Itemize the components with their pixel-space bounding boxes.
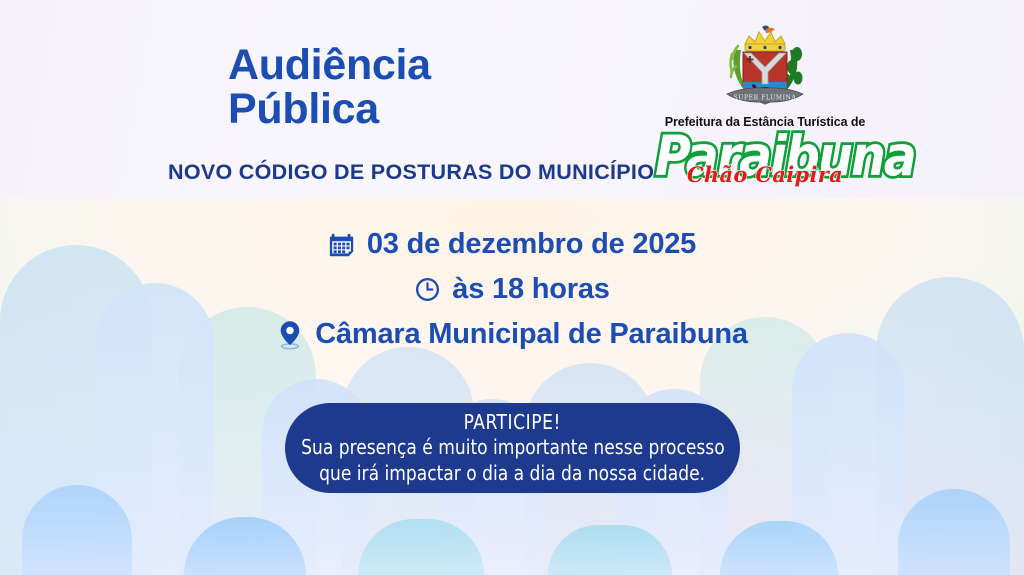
city-logo: SUPER FLUMINA Prefeitura da Estância Tur…	[655, 22, 875, 190]
logo-wordmark-sub: Chão Caipira	[655, 162, 875, 187]
detail-row-date: 03 de dezembro de 2025	[0, 222, 1024, 267]
map-pin-icon	[276, 319, 304, 350]
clock-icon	[414, 276, 441, 303]
title-line-2: Pública	[228, 88, 431, 132]
detail-text-place: Câmara Municipal de Paraibuna	[315, 318, 748, 351]
poster-canvas: Audiência Pública NOVO CÓDIGO DE POSTURA…	[0, 0, 1024, 575]
detail-row-place: Câmara Municipal de Paraibuna	[0, 312, 1024, 357]
callout-heading: PARTICIPE!	[464, 410, 561, 435]
detail-text-time: às 18 horas	[452, 273, 609, 306]
calendar-icon	[328, 231, 356, 259]
crest-motto: SUPER FLUMINA	[734, 95, 797, 102]
page-subtitle: NOVO CÓDIGO DE POSTURAS DO MUNICÍPIO	[168, 160, 654, 185]
detail-text-date: 03 de dezembro de 2025	[367, 228, 696, 261]
event-details: 03 de dezembro de 2025 às 18 horas Câmar…	[0, 222, 1024, 357]
paraibuna-coat-of-arms-icon: SUPER FLUMINA	[655, 22, 875, 114]
detail-row-time: às 18 horas	[0, 267, 1024, 312]
page-title: Audiência Pública	[228, 44, 431, 132]
callout-line-2: que irá impactar o dia a dia da nossa ci…	[320, 461, 706, 486]
participate-callout: PARTICIPE! Sua presença é muito importan…	[285, 403, 740, 493]
title-line-1: Audiência	[228, 44, 431, 88]
callout-line-1: Sua presença é muito importante nesse pr…	[301, 435, 725, 460]
logo-wordmark-group: Paraibuna Chão Caipira	[655, 130, 875, 190]
